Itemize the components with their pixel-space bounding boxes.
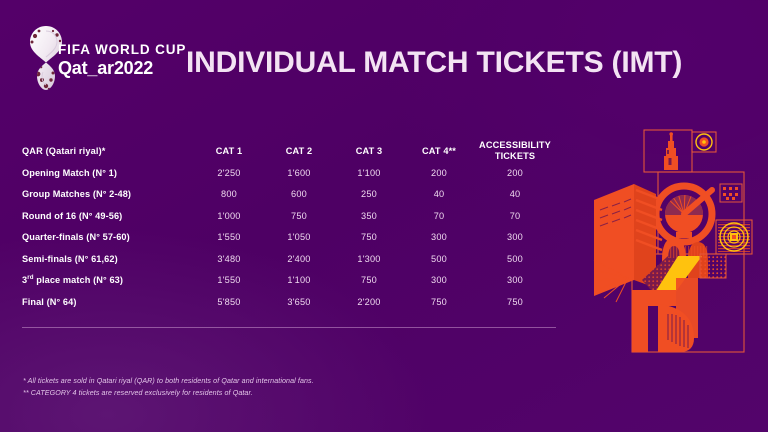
individual-match-tickets-table: QAR (Qatari riyal)* CAT 1 CAT 2 CAT 3 CA… <box>22 140 556 313</box>
row-price-cell: 300 <box>404 227 474 249</box>
fifa-wordmark: FIFA WORLD CUP Qat_ar2022 <box>58 42 173 90</box>
row-price-cell: 1'100 <box>334 162 404 184</box>
poster-canvas: FIFA WORLD CUP Qat_ar2022 INDIVIDUAL MAT… <box>0 0 768 432</box>
column-header-cat-1: CAT 1 <box>194 140 264 162</box>
footnotes: * All tickets are sold in Qatari riyal (… <box>23 376 463 399</box>
row-price-cell: 300 <box>474 270 556 292</box>
row-price-cell: 1'550 <box>194 227 264 249</box>
table-row: Final (N° 64)5'8503'6502'200750750 <box>22 291 556 313</box>
row-price-cell: 250 <box>334 184 404 206</box>
table-row: Opening Match (N° 1)2'2501'6001'10020020… <box>22 162 556 184</box>
table-row: 3rd place match (N° 63)1'5501'1007503003… <box>22 270 556 292</box>
table-row: Group Matches (N° 2-48)8006002504040 <box>22 184 556 206</box>
row-price-cell: 1'000 <box>194 205 264 227</box>
table-bottom-rule <box>22 327 556 328</box>
row-price-cell: 750 <box>334 227 404 249</box>
row-price-cell: 70 <box>474 205 556 227</box>
header: FIFA WORLD CUP Qat_ar2022 INDIVIDUAL MAT… <box>0 0 768 120</box>
column-header-cat-2: CAT 2 <box>264 140 334 162</box>
qatar-2022-abstract-landmark-illustration-icon <box>592 128 768 364</box>
table-row: Quarter-finals (N° 57-60)1'5501'05075030… <box>22 227 556 249</box>
row-price-cell: 1'050 <box>264 227 334 249</box>
row-price-cell: 350 <box>334 205 404 227</box>
row-label: Final (N° 64) <box>22 291 194 313</box>
column-header-cat-4: CAT 4** <box>404 140 474 162</box>
row-price-cell: 750 <box>264 205 334 227</box>
row-price-cell: 2'400 <box>264 248 334 270</box>
row-price-cell: 300 <box>474 227 556 249</box>
row-price-cell: 750 <box>404 291 474 313</box>
row-price-cell: 5'850 <box>194 291 264 313</box>
row-price-cell: 500 <box>404 248 474 270</box>
row-price-cell: 750 <box>334 270 404 292</box>
row-price-cell: 300 <box>404 270 474 292</box>
accessibility-header-line-2: TICKETS <box>495 151 535 161</box>
table-header-row: QAR (Qatari riyal)* CAT 1 CAT 2 CAT 3 CA… <box>22 140 556 162</box>
row-price-cell: 2'250 <box>194 162 264 184</box>
row-price-cell: 40 <box>404 184 474 206</box>
table-header: QAR (Qatari riyal)* CAT 1 CAT 2 CAT 3 CA… <box>22 140 556 162</box>
table-body: Opening Match (N° 1)2'2501'6001'10020020… <box>22 162 556 313</box>
accessibility-header-line-1: ACCESSIBILITY <box>479 140 551 150</box>
row-price-cell: 200 <box>404 162 474 184</box>
row-price-cell: 3'480 <box>194 248 264 270</box>
table-row: Semi-finals (N° 61,62)3'4802'4001'300500… <box>22 248 556 270</box>
row-price-cell: 3'650 <box>264 291 334 313</box>
row-price-cell: 70 <box>404 205 474 227</box>
row-price-cell: 600 <box>264 184 334 206</box>
row-price-cell: 750 <box>474 291 556 313</box>
row-label: 3rd place match (N° 63) <box>22 270 194 292</box>
row-price-cell: 2'200 <box>334 291 404 313</box>
row-label: Round of 16 (N° 49-56) <box>22 205 194 227</box>
footnote-currency: * All tickets are sold in Qatari riyal (… <box>23 376 463 388</box>
row-price-cell: 1'600 <box>264 162 334 184</box>
column-header-accessibility-tickets: ACCESSIBILITY TICKETS <box>474 140 556 162</box>
row-label: Opening Match (N° 1) <box>22 162 194 184</box>
row-label: Group Matches (N° 2-48) <box>22 184 194 206</box>
column-header-currency: QAR (Qatari riyal)* <box>22 140 194 162</box>
table-row: Round of 16 (N° 49-56)1'0007503507070 <box>22 205 556 227</box>
row-price-cell: 500 <box>474 248 556 270</box>
row-label: Quarter-finals (N° 57-60) <box>22 227 194 249</box>
row-label: Semi-finals (N° 61,62) <box>22 248 194 270</box>
footnote-category-4: ** CATEGORY 4 tickets are reserved exclu… <box>23 388 463 400</box>
wordmark-line-1: FIFA WORLD CUP <box>58 42 173 57</box>
page-title: INDIVIDUAL MATCH TICKETS (IMT) <box>186 46 682 80</box>
wordmark-line-2: Qat_ar2022 <box>58 58 173 79</box>
row-price-cell: 1'100 <box>264 270 334 292</box>
row-price-cell: 1'300 <box>334 248 404 270</box>
row-price-cell: 800 <box>194 184 264 206</box>
row-price-cell: 40 <box>474 184 556 206</box>
column-header-cat-3: CAT 3 <box>334 140 404 162</box>
row-price-cell: 200 <box>474 162 556 184</box>
row-price-cell: 1'550 <box>194 270 264 292</box>
